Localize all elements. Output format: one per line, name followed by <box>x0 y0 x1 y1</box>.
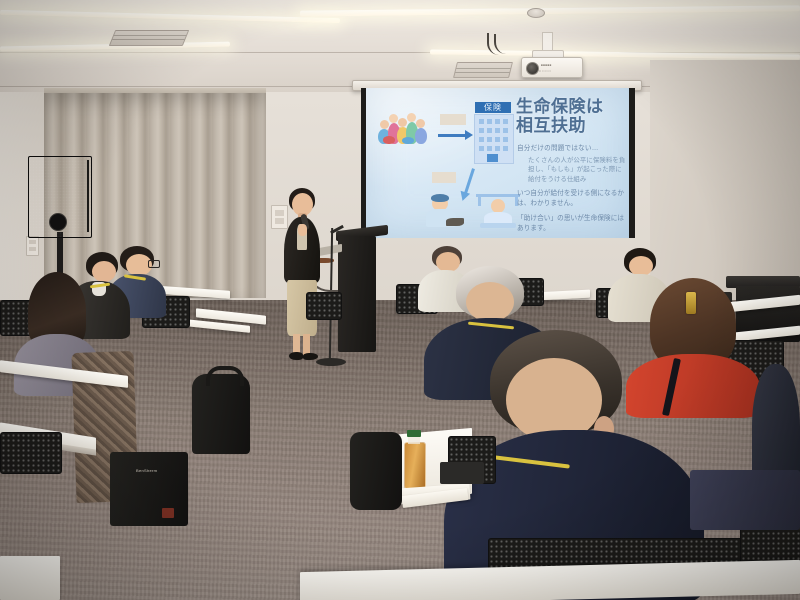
backpack: BenSherm <box>110 452 188 526</box>
attendee-right-rear <box>752 364 800 484</box>
slide-subtitle: 自分だけの問題ではない… <box>517 142 599 152</box>
gold-hair-clip <box>686 292 696 314</box>
chair[interactable] <box>306 292 342 320</box>
slide-tag-premium <box>440 114 466 125</box>
backpack-handle <box>206 366 244 386</box>
head <box>466 282 514 322</box>
pa-speaker <box>28 156 92 238</box>
presenter <box>281 188 325 360</box>
desk <box>0 556 60 600</box>
slide-crowd-illustration <box>378 110 430 144</box>
chair[interactable] <box>0 432 62 474</box>
projection-screen: 保険 <box>366 88 629 238</box>
bag-brand-text: BenSherm <box>136 468 157 473</box>
presenter-shoe <box>289 352 303 360</box>
slide-tag-insurance: 保険 <box>475 102 511 113</box>
head <box>629 256 653 276</box>
tote-bag <box>350 432 402 510</box>
slide-patient-bed-icon <box>476 194 520 228</box>
desk-tray <box>440 462 484 484</box>
ceiling-air-vent <box>109 30 189 46</box>
presenter-shoe <box>303 353 318 360</box>
folded-garment <box>690 470 800 530</box>
slide-person-crying-icon <box>424 196 468 228</box>
wall-outlet <box>26 236 39 256</box>
smoke-detector-icon <box>527 8 545 18</box>
lectern <box>338 236 376 352</box>
slide-body-1: たくさんの人が公平に保険料を負担し、「もしも」が起こった際に給付をうける仕組み <box>528 156 626 184</box>
seminar-room-photo: ■■■■■ □ □ □ □ <box>0 0 800 600</box>
bottle-cap <box>407 430 421 437</box>
speaker-woofer-icon <box>49 213 67 231</box>
slide-title-line1: 生命保険は <box>516 98 604 116</box>
slide-tag-benefit <box>432 172 456 183</box>
bottle-neck <box>408 436 420 444</box>
projector-lens-icon <box>526 62 539 75</box>
slide-building-icon <box>474 114 514 164</box>
presenter-hand <box>298 224 307 236</box>
glasses-icon <box>148 260 160 268</box>
bag-label-patch <box>162 508 174 518</box>
slide-title-line2: 相互扶助 <box>516 117 586 135</box>
screen-side-frame <box>629 88 635 238</box>
slide-body-3: 「助け合い」の思いが生命保険にはあります。 <box>517 214 625 233</box>
ceiling-projector: ■■■■■ □ □ □ □ <box>521 57 583 78</box>
tea-bottle <box>404 442 426 490</box>
slide-body-2: いつ自分が給付を受ける側になるかは、わかりません。 <box>517 189 625 208</box>
speaker-cable <box>87 160 89 232</box>
ceiling-air-vent <box>453 62 513 78</box>
backpack <box>192 374 250 454</box>
attendee-torso <box>752 364 800 484</box>
slide-arrow-right-icon <box>438 134 466 137</box>
